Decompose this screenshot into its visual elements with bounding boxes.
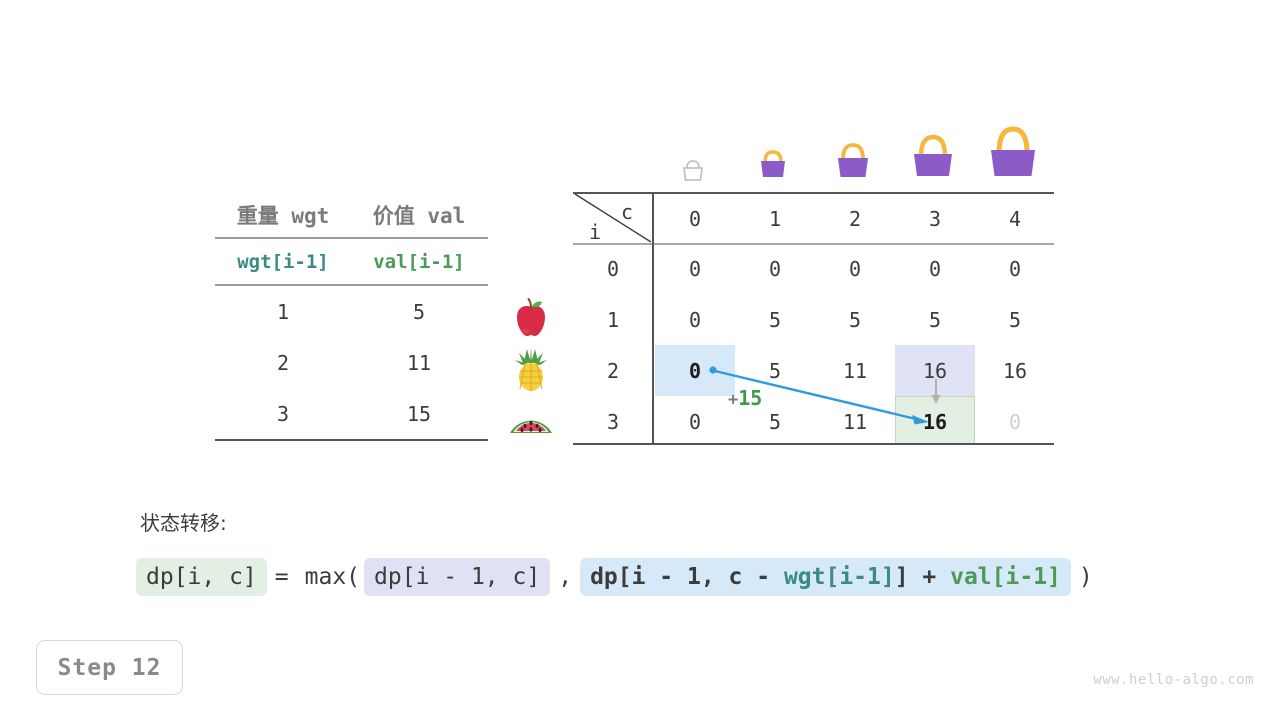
item-wgt-2: 2 <box>215 351 351 375</box>
bag-small-icon <box>754 144 792 185</box>
dp-cell-r0c0: 0 <box>655 256 735 282</box>
dp-row-header-0: 0 <box>573 256 653 282</box>
plus-number: 15 <box>738 386 762 410</box>
dp-cell-r2c1: 5 <box>735 358 815 384</box>
dp-cell-r1c1: 5 <box>735 307 815 333</box>
dp-cell-r0c1: 0 <box>735 256 815 282</box>
item-table-row: 1 5 <box>215 286 488 337</box>
item-table-subheader-row: wgt[i-1] val[i-1] <box>215 239 488 284</box>
watermark: www.hello-algo.com <box>1093 672 1254 688</box>
dp-row-header-1: 1 <box>573 307 653 333</box>
dp-cell-r2c4: 16 <box>975 358 1055 384</box>
formula-max-open: max( <box>297 564 364 590</box>
bag-medium-icon <box>830 134 876 185</box>
dp-border-bottom <box>573 443 1054 445</box>
dp-cell-r0c3: 0 <box>895 256 975 282</box>
dp-cell-r3c0: 0 <box>655 409 735 435</box>
dp-cell-r3c3: 16 <box>895 409 975 435</box>
formula-close-paren: ) <box>1071 564 1101 590</box>
bag-large-icon <box>906 124 960 185</box>
plus-value-annotation: +15 <box>728 386 762 410</box>
item-table: 重量 wgt 价值 val wgt[i-1] val[i-1] 1 5 2 11… <box>215 192 488 441</box>
step-badge: Step 12 <box>36 640 183 695</box>
dp-cell-r1c0: 0 <box>655 307 735 333</box>
item-wgt-1: 1 <box>215 300 351 324</box>
item-table-rule-bottom <box>215 439 488 441</box>
item-val-1: 5 <box>351 300 487 324</box>
dp-cell-r1c4: 5 <box>975 307 1055 333</box>
dp-cell-r2c2: 11 <box>815 358 895 384</box>
bag-empty-icon <box>679 157 707 187</box>
canvas: 重量 wgt 价值 val wgt[i-1] val[i-1] 1 5 2 11… <box>0 0 1280 720</box>
formula-equals: = <box>267 564 297 590</box>
corner-label-i: i <box>589 220 601 244</box>
watermelon-icon <box>506 397 556 447</box>
formula-term-take: dp[i - 1, c - wgt[i-1]] + val[i-1] <box>580 558 1071 596</box>
dp-cell-r3c2: 11 <box>815 409 895 435</box>
corner-diagonal-line <box>573 192 653 244</box>
formula-take-prefix: dp[i - 1, c - <box>590 564 784 590</box>
dp-cell-r3c1: 5 <box>735 409 815 435</box>
corner-label-c: c <box>621 200 633 224</box>
dp-table: c i 0 1 2 3 4 0 1 2 3 0 0 0 0 0 0 5 5 5 … <box>573 192 1054 445</box>
formula-term-target: dp[i, c] <box>136 558 267 596</box>
bag-xlarge-icon <box>982 113 1044 185</box>
item-table-header-val: 价值 val <box>351 200 487 230</box>
item-table-header-wgt: 重量 wgt <box>215 200 351 230</box>
dp-cell-r0c4: 0 <box>975 256 1055 282</box>
down-arrow-icon <box>927 378 945 406</box>
dp-cell-r2c0: 0 <box>655 358 735 384</box>
transition-formula: dp[i, c] = max( dp[i - 1, c] , dp[i - 1,… <box>136 558 1101 596</box>
dp-cell-r3c4: 0 <box>975 409 1055 435</box>
formula-token-wgt: wgt[i-1] <box>784 564 895 590</box>
formula-term-skip: dp[i - 1, c] <box>364 558 550 596</box>
transition-heading: 状态转移: <box>140 507 227 536</box>
item-table-header-row: 重量 wgt 价值 val <box>215 192 488 237</box>
dp-row-header-3: 3 <box>573 409 653 435</box>
apple-icon <box>506 293 556 343</box>
dp-cell-r1c3: 5 <box>895 307 975 333</box>
item-table-subheader-wgt: wgt[i-1] <box>215 251 351 273</box>
dp-cell-r0c2: 0 <box>815 256 895 282</box>
item-wgt-3: 3 <box>215 402 351 426</box>
item-val-2: 11 <box>351 351 487 375</box>
dp-col-header-3: 3 <box>895 206 975 232</box>
formula-token-val: val[i-1] <box>950 564 1061 590</box>
item-table-row: 2 11 <box>215 337 488 388</box>
dp-col-header-4: 4 <box>975 206 1055 232</box>
item-val-3: 15 <box>351 402 487 426</box>
plus-sign: + <box>728 390 738 410</box>
formula-comma: , <box>550 564 580 590</box>
item-table-row: 3 15 <box>215 388 488 439</box>
dp-cell-r1c2: 5 <box>815 307 895 333</box>
pineapple-icon <box>506 345 556 395</box>
item-table-subheader-val: val[i-1] <box>351 251 487 273</box>
dp-row-header-2: 2 <box>573 358 653 384</box>
dp-col-header-1: 1 <box>735 206 815 232</box>
dp-col-header-0: 0 <box>655 206 735 232</box>
dp-col-header-2: 2 <box>815 206 895 232</box>
formula-take-middle: ] + <box>895 564 950 590</box>
